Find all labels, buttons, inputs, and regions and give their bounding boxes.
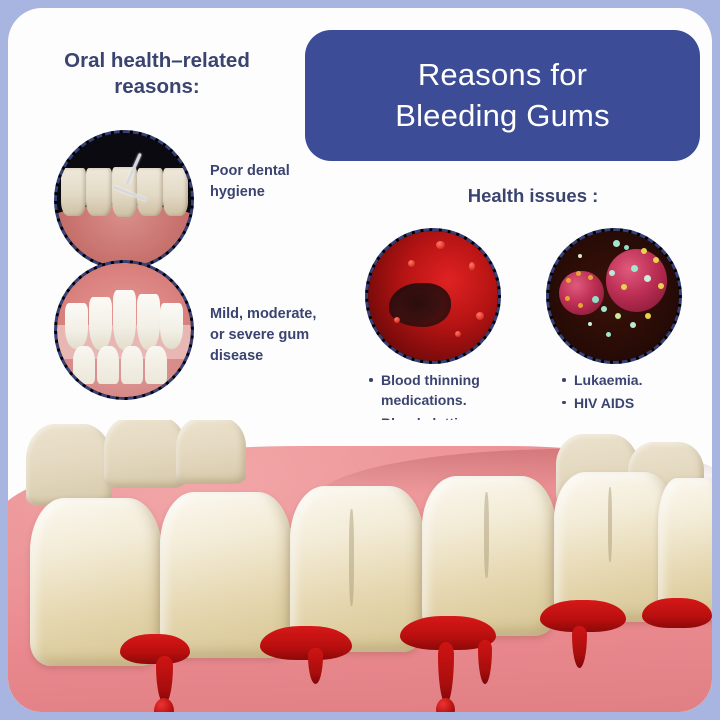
virus-particle xyxy=(615,313,621,319)
tooth-shape xyxy=(86,168,111,216)
tooth-shape xyxy=(89,297,112,351)
title-banner: Reasons for Bleeding Gums xyxy=(305,30,700,161)
virus-particle xyxy=(653,257,659,263)
tooth-shape xyxy=(61,168,86,216)
red-blood-cell xyxy=(476,312,484,320)
back-molar xyxy=(176,420,246,484)
red-blood-cell xyxy=(436,241,445,249)
poor-hygiene-label-line-1: Poor dental xyxy=(210,161,320,182)
virus-particle xyxy=(588,322,592,326)
oral-health-heading-line-1: Oral health–related xyxy=(32,48,282,74)
red-blood-cell xyxy=(455,331,461,337)
tooth-shape xyxy=(163,168,188,216)
blood-pool xyxy=(260,626,352,660)
bullet-line-2: medications. xyxy=(381,392,467,408)
virus-particle xyxy=(621,284,627,290)
virus-cells-photo-circle xyxy=(546,228,682,364)
virus-particle xyxy=(578,303,583,308)
molar-groove xyxy=(484,492,489,578)
blood-clot-photo-circle xyxy=(365,228,501,364)
poor-hygiene-label-line-2: hygiene xyxy=(210,182,320,203)
virus-particle xyxy=(630,322,636,328)
molar-groove xyxy=(349,509,354,605)
virus-particle xyxy=(631,265,638,272)
gum-disease-label-line-2: or severe gum xyxy=(210,325,330,346)
tooth-shape xyxy=(113,290,136,350)
blood-pool xyxy=(642,598,712,628)
poor-hygiene-label: Poor dental hygiene xyxy=(210,161,320,203)
oral-health-heading: Oral health–related reasons: xyxy=(32,48,282,100)
virus-particle xyxy=(578,254,582,258)
virus-particle xyxy=(601,306,607,312)
gum-disease-label-line-1: Mild, moderate, xyxy=(210,304,330,325)
gum-disease-photo xyxy=(57,263,191,397)
red-blood-cell xyxy=(408,260,415,267)
oral-health-heading-line-2: reasons: xyxy=(32,74,282,100)
list-item: HIV AIDS xyxy=(561,394,696,414)
blood-clot-photo xyxy=(368,231,498,361)
virus-particle xyxy=(609,270,615,276)
gum-disease-label: Mild, moderate, or severe gum disease xyxy=(210,304,330,367)
tooth-shape xyxy=(73,346,94,384)
bleeding-gums-hero-image xyxy=(8,420,712,712)
back-molar xyxy=(26,424,112,506)
infographic-card: Reasons for Bleeding Gums Oral health–re… xyxy=(8,8,712,712)
virus-particle xyxy=(645,313,651,319)
bullet-line-1: Blood thinning xyxy=(381,372,480,388)
virus-particle xyxy=(566,278,571,283)
virus-particle xyxy=(606,332,611,337)
health-issues-heading: Health issues : xyxy=(388,184,678,208)
virus-particle xyxy=(565,296,570,301)
back-molar xyxy=(104,420,186,488)
gum-disease-label-line-3: disease xyxy=(210,346,330,367)
bullet-line-1: HIV AIDS xyxy=(574,395,634,411)
poor-hygiene-photo xyxy=(57,133,191,267)
poor-hygiene-photo-circle xyxy=(54,130,194,270)
title-line-2: Bleeding Gums xyxy=(395,97,610,136)
tooth-shape xyxy=(137,294,160,350)
tooth-shape xyxy=(160,303,183,349)
red-blood-cell xyxy=(469,262,475,271)
list-item: Lukaemia. xyxy=(561,371,696,391)
molar-groove xyxy=(608,487,612,562)
front-molar xyxy=(422,476,556,636)
bullet-line-1: Lukaemia. xyxy=(574,372,642,388)
gum-disease-photo-circle xyxy=(54,260,194,400)
virus-cells-photo xyxy=(549,231,679,361)
virus-particle xyxy=(613,240,620,247)
red-blood-cell xyxy=(394,317,400,323)
tooth-shape xyxy=(137,168,162,216)
blood-pool xyxy=(120,634,190,664)
tooth-shape xyxy=(97,346,118,384)
virus-particle xyxy=(592,296,599,303)
tooth-shape xyxy=(145,346,166,384)
tooth-shape xyxy=(65,303,88,349)
tooth-shape xyxy=(121,346,142,384)
title-line-1: Reasons for xyxy=(418,56,587,95)
list-item: Blood thinning medications. xyxy=(368,371,508,411)
